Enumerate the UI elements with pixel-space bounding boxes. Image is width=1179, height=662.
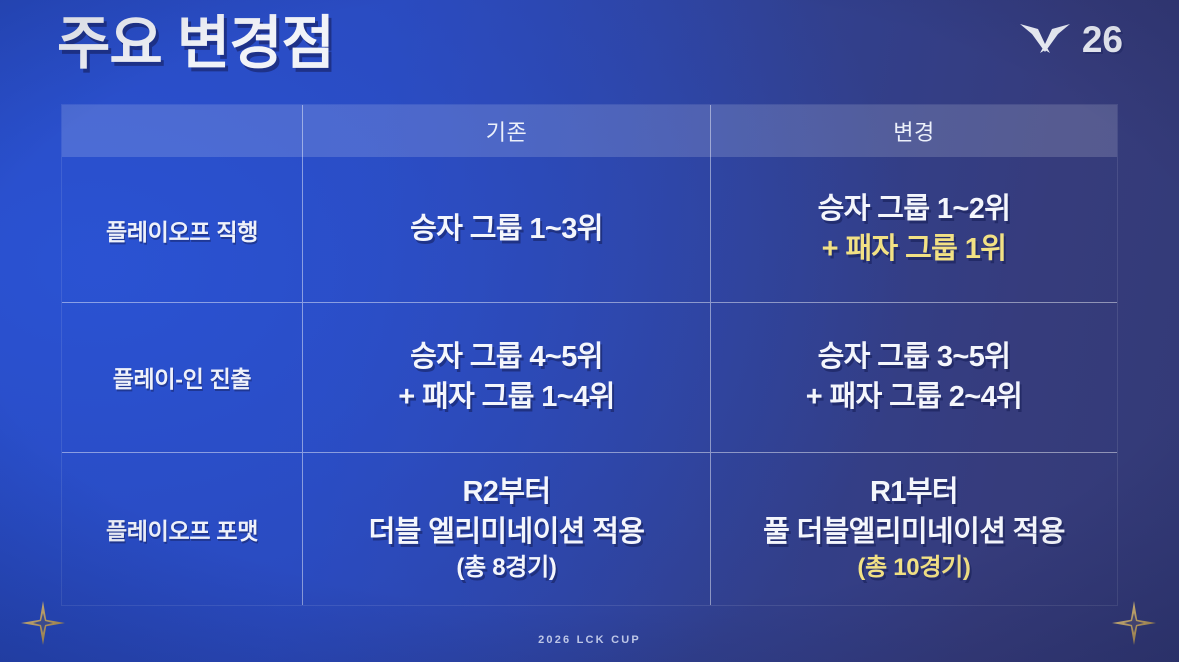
value-line: 승자 그룹 1~2위 xyxy=(818,191,1011,228)
footer-label: 2026 LCK CUP xyxy=(0,634,1179,646)
slide-header: 주요 변경점 26 xyxy=(0,0,1179,100)
brand-logo: 26 xyxy=(1018,20,1123,59)
new-value-lines: 승자 그룹 3~5위 + 패자 그룹 2~4위 xyxy=(721,339,1107,415)
value-line: 풀 더블엘리미네이션 적용 xyxy=(763,514,1065,551)
table-row: 플레이오프 포맷 R2부터 더블 엘리미네이션 적용 (총 8경기) R1부터 … xyxy=(62,452,1117,605)
row-new-cell: 승자 그룹 3~5위 + 패자 그룹 2~4위 xyxy=(710,303,1117,451)
row-old-cell: R2부터 더블 엘리미네이션 적용 (총 8경기) xyxy=(302,453,710,605)
value-line: + 패자 그룹 2~4위 xyxy=(806,379,1023,416)
comparison-table: 기존 변경 플레이오프 직행 승자 그룹 1~3위 승자 그룹 1~2위 + 패… xyxy=(62,105,1117,605)
header-cell-new: 변경 xyxy=(710,105,1117,157)
value-line-highlight: + 패자 그룹 1위 xyxy=(822,231,1007,268)
table-row: 플레이-인 진출 승자 그룹 4~5위 + 패자 그룹 1~4위 승자 그룹 3… xyxy=(62,302,1117,451)
value-line: 승자 그룹 1~3위 xyxy=(410,211,603,248)
row-label-cell: 플레이-인 진출 xyxy=(62,303,302,451)
old-value-lines: 승자 그룹 4~5위 + 패자 그룹 1~4위 xyxy=(313,339,700,415)
value-line: R1부터 xyxy=(870,474,958,511)
header-cell-old: 기존 xyxy=(302,105,710,157)
row-new-cell: R1부터 풀 더블엘리미네이션 적용 (총 10경기) xyxy=(710,453,1117,605)
table-header-row: 기존 변경 xyxy=(62,105,1117,157)
value-line: 승자 그룹 4~5위 xyxy=(410,339,603,376)
old-value-lines: R2부터 더블 엘리미네이션 적용 (총 8경기) xyxy=(313,474,700,583)
value-line: 승자 그룹 3~5위 xyxy=(818,339,1011,376)
page-title: 주요 변경점 xyxy=(57,8,334,81)
sparkle-star-icon xyxy=(20,600,66,646)
row-old-cell: 승자 그룹 1~3위 xyxy=(302,157,710,302)
row-new-cell: 승자 그룹 1~2위 + 패자 그룹 1위 xyxy=(710,157,1117,302)
wing-logo-icon xyxy=(1018,20,1072,59)
slide-root: 주요 변경점 26 기존 변경 플레 xyxy=(0,0,1179,662)
value-line: 더블 엘리미네이션 적용 xyxy=(369,514,645,551)
value-line: R2부터 xyxy=(462,474,550,511)
sparkle-star-icon xyxy=(1111,600,1157,646)
value-line-note: (총 8경기) xyxy=(456,553,556,583)
value-line-note-highlight: (총 10경기) xyxy=(857,553,970,583)
new-value-lines: R1부터 풀 더블엘리미네이션 적용 (총 10경기) xyxy=(721,474,1107,583)
old-value-lines: 승자 그룹 1~3위 xyxy=(313,211,700,248)
row-label-cell: 플레이오프 포맷 xyxy=(62,453,302,605)
row-old-cell: 승자 그룹 4~5위 + 패자 그룹 1~4위 xyxy=(302,303,710,451)
value-line: + 패자 그룹 1~4위 xyxy=(398,379,615,416)
brand-year-label: 26 xyxy=(1082,21,1123,58)
header-cell-label xyxy=(62,105,302,157)
table-row: 플레이오프 직행 승자 그룹 1~3위 승자 그룹 1~2위 + 패자 그룹 1… xyxy=(62,157,1117,302)
row-label-cell: 플레이오프 직행 xyxy=(62,157,302,302)
new-value-lines: 승자 그룹 1~2위 + 패자 그룹 1위 xyxy=(721,191,1107,267)
